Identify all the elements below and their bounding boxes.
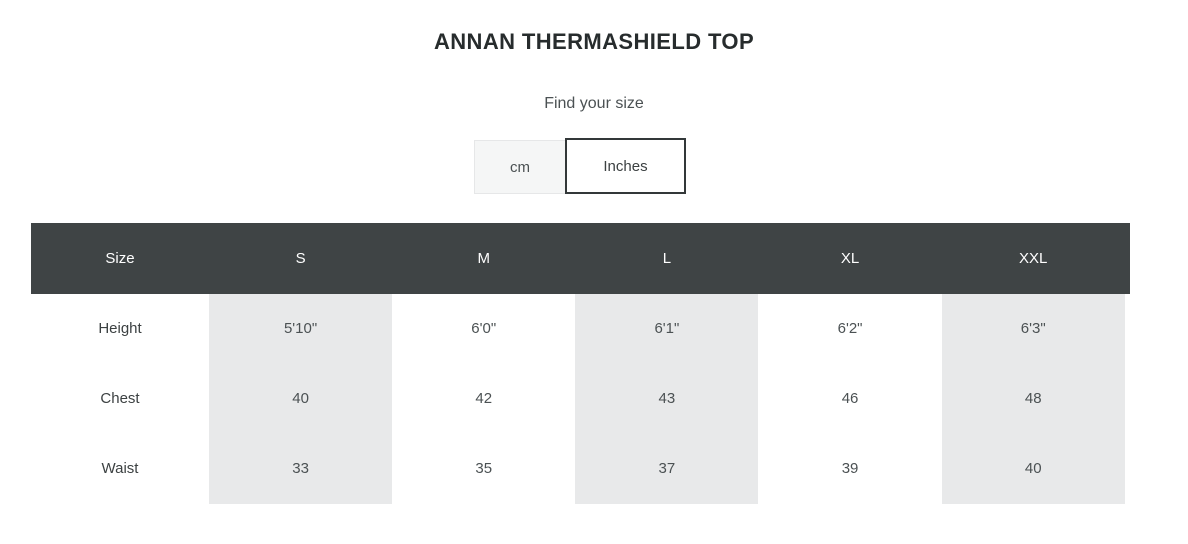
size-chart-table: Size S M L XL XXL Height 5'10" 6'0" 6'1"… <box>31 223 1130 504</box>
table-row: Waist 33 35 37 39 40 <box>31 434 1130 504</box>
cell-waist-s: 33 <box>209 459 392 479</box>
row-label-height: Height <box>31 319 209 339</box>
cell-height-s: 5'10" <box>209 319 392 339</box>
column-header-l: L <box>575 249 758 269</box>
unit-toggle-inches[interactable]: Inches <box>565 138 686 194</box>
row-label-chest: Chest <box>31 389 209 409</box>
cell-waist-l: 37 <box>575 459 758 479</box>
find-your-size-label: Find your size <box>0 93 1188 115</box>
column-header-size: Size <box>31 249 209 269</box>
cell-chest-m: 42 <box>392 389 575 409</box>
unit-toggle-cm[interactable]: cm <box>474 140 566 194</box>
table-row: Chest 40 42 43 46 48 <box>31 364 1130 434</box>
cell-waist-xxl: 40 <box>942 459 1125 479</box>
table-row: Height 5'10" 6'0" 6'1" 6'2" 6'3" <box>31 294 1130 364</box>
cell-chest-xl: 46 <box>758 389 941 409</box>
table-header-row: Size S M L XL XXL <box>31 223 1130 294</box>
cell-height-l: 6'1" <box>575 319 758 339</box>
cell-height-m: 6'0" <box>392 319 575 339</box>
column-header-xxl: XXL <box>942 249 1125 269</box>
cell-waist-xl: 39 <box>758 459 941 479</box>
row-label-waist: Waist <box>31 459 209 479</box>
unit-toggle-group: cm Inches <box>474 138 686 194</box>
cell-waist-m: 35 <box>392 459 575 479</box>
cell-chest-xxl: 48 <box>942 389 1125 409</box>
page-title: ANNAN THERMASHIELD TOP <box>0 27 1188 57</box>
cell-height-xxl: 6'3" <box>942 319 1125 339</box>
column-header-s: S <box>209 249 392 269</box>
cell-height-xl: 6'2" <box>758 319 941 339</box>
cell-chest-s: 40 <box>209 389 392 409</box>
column-header-xl: XL <box>758 249 941 269</box>
cell-chest-l: 43 <box>575 389 758 409</box>
table-body: Height 5'10" 6'0" 6'1" 6'2" 6'3" Chest 4… <box>31 294 1130 504</box>
column-header-m: M <box>392 249 575 269</box>
